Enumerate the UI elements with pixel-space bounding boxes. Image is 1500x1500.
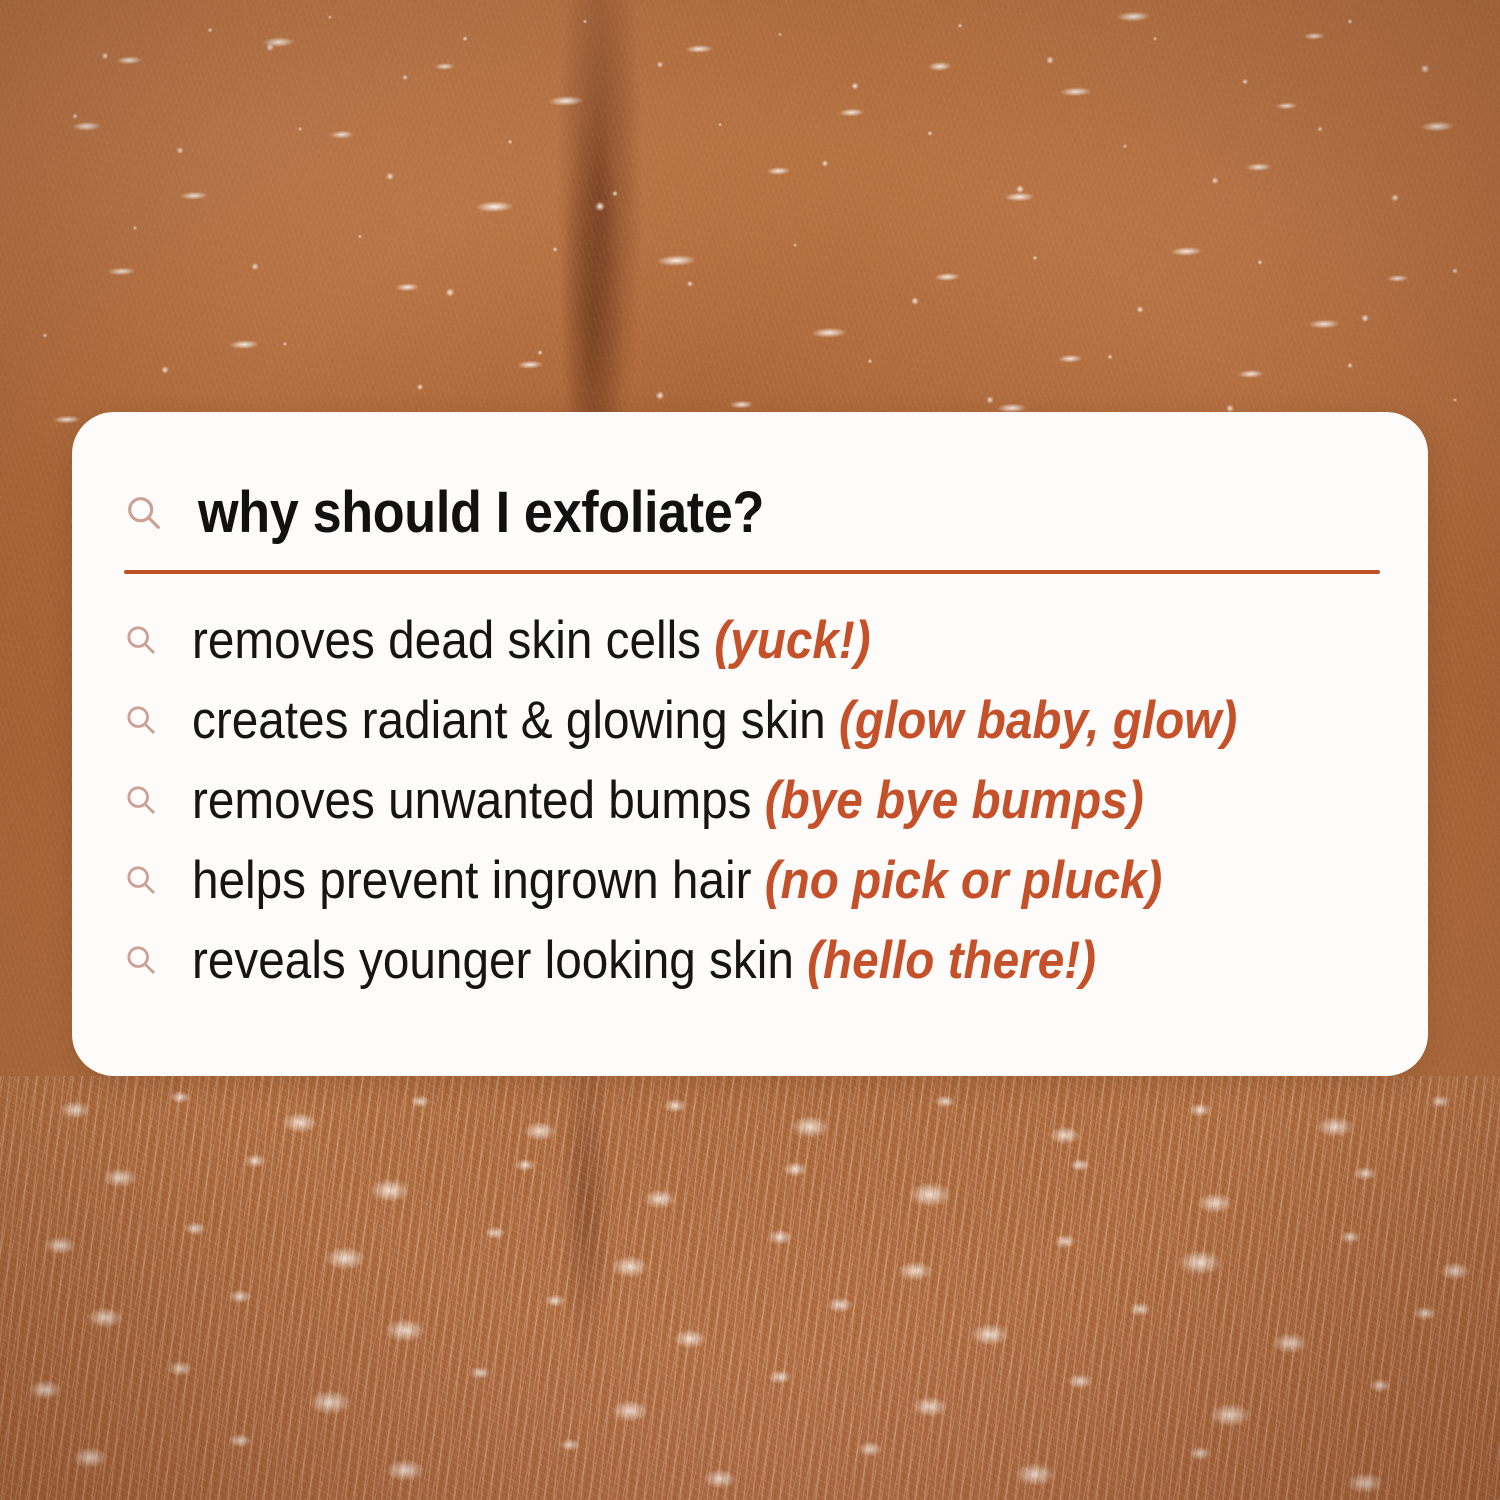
page-title: why should I exfoliate? [198,484,764,542]
benefits-list: removes dead skin cells (yuck!) creates … [124,600,1380,1000]
faq-card: why should I exfoliate? removes dead ski… [72,412,1428,1076]
benefit-label: removes unwanted bumps [192,771,765,830]
benefit-aside: (bye bye bumps) [765,771,1144,830]
search-icon [124,623,158,657]
benefit-aside: (no pick or pluck) [765,851,1163,910]
benefit-aside: (glow baby, glow) [839,691,1237,750]
search-icon [124,863,158,897]
benefit-line: removes unwanted bumps (bye bye bumps) [192,774,1144,827]
benefit-label: creates radiant & glowing skin [192,691,839,750]
benefit-line: creates radiant & glowing skin (glow bab… [192,694,1237,747]
poster-canvas: why should I exfoliate? removes dead ski… [0,0,1500,1500]
header-divider [124,570,1380,574]
list-item: removes dead skin cells (yuck!) [124,600,1380,680]
search-icon [124,703,158,737]
list-item: reveals younger looking skin (hello ther… [124,920,1380,1000]
benefit-line: helps prevent ingrown hair (no pick or p… [192,854,1162,907]
list-item: removes unwanted bumps (bye bye bumps) [124,760,1380,840]
list-item: creates radiant & glowing skin (glow bab… [124,680,1380,760]
benefit-aside: (yuck!) [714,611,870,670]
search-icon [124,943,158,977]
faq-header: why should I exfoliate? [124,482,1380,544]
benefit-label: reveals younger looking skin [192,931,807,990]
benefit-line: removes dead skin cells (yuck!) [192,614,871,667]
benefit-line: reveals younger looking skin (hello ther… [192,934,1096,987]
benefit-label: helps prevent ingrown hair [192,851,765,910]
faq-card-content: why should I exfoliate? removes dead ski… [124,482,1380,1000]
search-icon [124,783,158,817]
benefit-label: removes dead skin cells [192,611,714,670]
benefit-aside: (hello there!) [807,931,1096,990]
list-item: helps prevent ingrown hair (no pick or p… [124,840,1380,920]
search-icon [124,493,164,533]
